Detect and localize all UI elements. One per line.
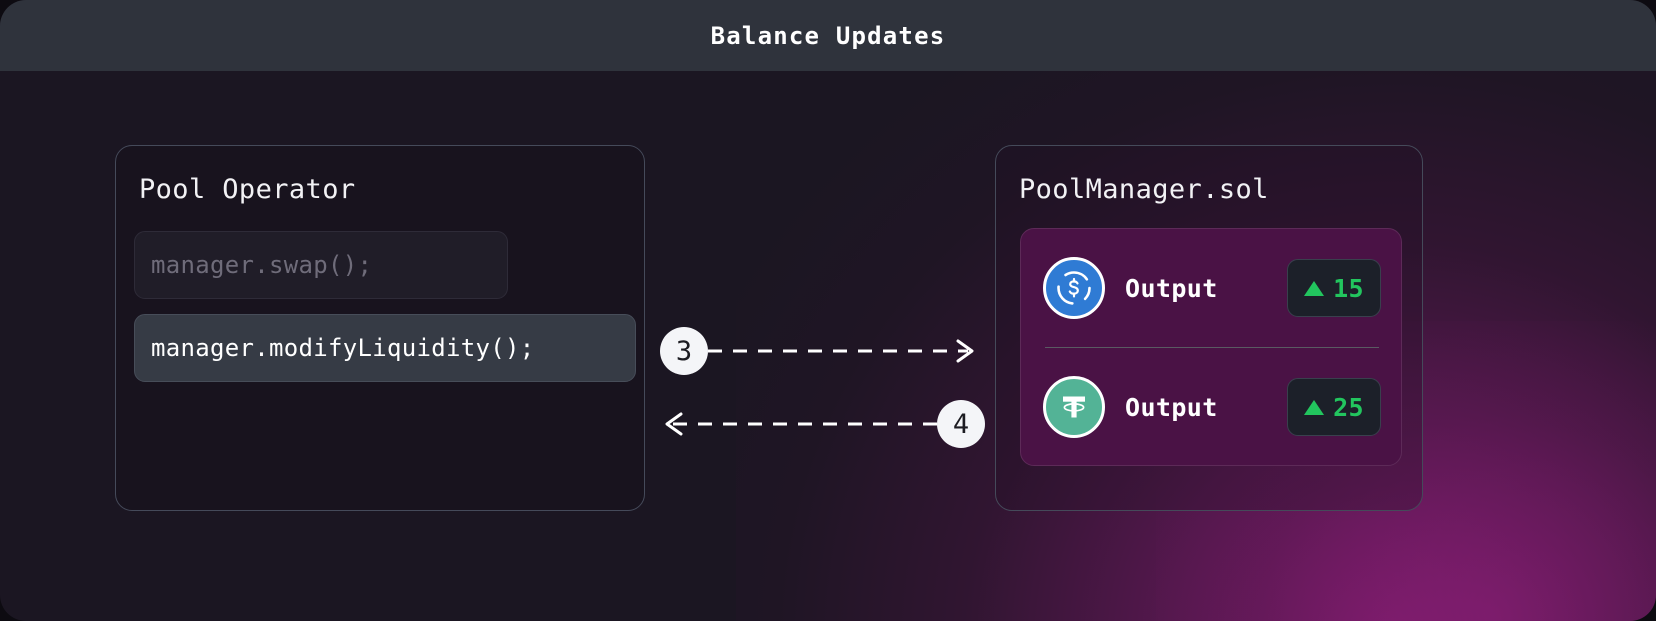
pool-operator-panel: Pool Operator manager.swap(); manager.mo…	[115, 145, 645, 511]
diagram-canvas: Balance Updates Pool Operator manager.sw…	[0, 0, 1656, 621]
token-row: Output 15	[1021, 229, 1403, 347]
tether-coin-icon	[1043, 376, 1105, 438]
flow-step-3: 3	[660, 327, 990, 377]
step-marker-3: 3	[660, 327, 708, 375]
title-bar: Balance Updates	[0, 0, 1656, 71]
usdc-coin-icon	[1043, 257, 1105, 319]
code-line-modify-liquidity[interactable]: manager.modifyLiquidity();	[134, 314, 636, 382]
pool-manager-title: PoolManager.sol	[1019, 174, 1269, 205]
token-delta-value: 25	[1333, 393, 1364, 422]
code-line-swap[interactable]: manager.swap();	[134, 231, 508, 299]
token-delta-badge: 25	[1287, 378, 1381, 436]
token-delta-value: 15	[1333, 274, 1364, 303]
code-line-swap-text: manager.swap();	[151, 251, 372, 279]
token-row-label: Output	[1125, 274, 1218, 303]
pool-manager-panel: PoolManager.sol Output 15	[995, 145, 1423, 511]
page-title: Balance Updates	[711, 22, 946, 50]
token-row-label: Output	[1125, 393, 1218, 422]
pool-operator-title: Pool Operator	[139, 174, 356, 205]
delta-up-arrow-icon	[1304, 400, 1324, 415]
table-row: Output 25	[1021, 348, 1403, 466]
token-balance-card: Output 15 Output 25	[1020, 228, 1402, 466]
code-line-modify-liquidity-text: manager.modifyLiquidity();	[151, 334, 534, 362]
flow-step-4: 4	[655, 398, 985, 450]
token-delta-badge: 15	[1287, 259, 1381, 317]
step-marker-4: 4	[937, 400, 985, 448]
delta-up-arrow-icon	[1304, 281, 1324, 296]
